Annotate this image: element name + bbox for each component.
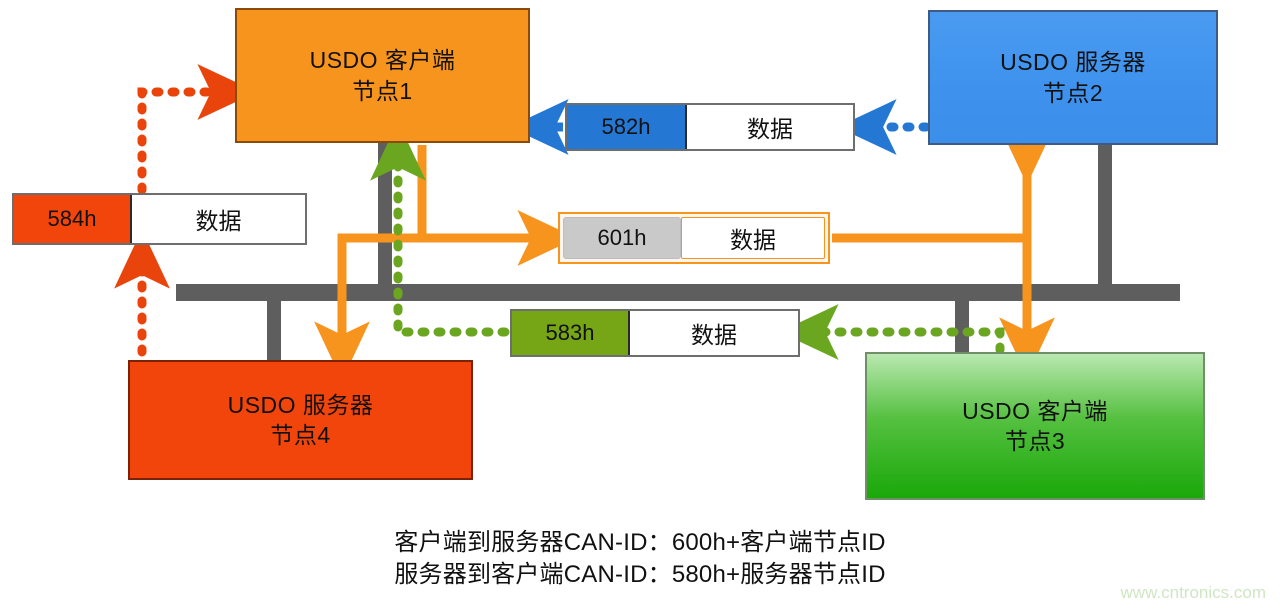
node4-line1: USDO 服务器 (228, 390, 374, 420)
can-frame-584h-id: 584h (14, 195, 132, 243)
node-usdo-client-1[interactable]: USDO 客户端 节点1 (235, 8, 530, 143)
site-watermark: www.cntronics.com (1121, 583, 1266, 603)
node-usdo-client-3[interactable]: USDO 客户端 节点3 (865, 352, 1205, 500)
diagram-canvas: USDO 客户端 节点1 USDO 服务器 节点2 USDO 客户端 节点3 U… (0, 0, 1280, 609)
node1-line2: 节点1 (352, 76, 412, 106)
arrow-node1-to-601h (422, 145, 548, 238)
can-frame-601h-data: 数据 (681, 217, 825, 259)
node1-line1: USDO 客户端 (310, 45, 456, 75)
can-frame-584h[interactable]: 584h 数据 (12, 193, 307, 245)
can-frame-601h[interactable]: 601h 数据 (558, 212, 830, 264)
can-frame-583h[interactable]: 583h 数据 (510, 309, 800, 357)
node3-line1: USDO 客户端 (962, 396, 1108, 426)
node2-line2: 节点2 (1043, 78, 1103, 108)
can-frame-583h-id: 583h (512, 311, 630, 355)
node4-line2: 节点4 (270, 420, 330, 450)
node-usdo-server-4[interactable]: USDO 服务器 节点4 (128, 360, 473, 480)
node2-line1: USDO 服务器 (1000, 47, 1146, 77)
arrow-node3-to-583h (808, 332, 1000, 350)
node-usdo-server-2[interactable]: USDO 服务器 节点2 (928, 10, 1218, 145)
can-frame-582h-id: 582h (567, 105, 687, 149)
arrow-584h-to-node1 (142, 92, 228, 190)
can-frame-601h-id: 601h (563, 217, 681, 259)
can-frame-583h-data: 数据 (630, 311, 798, 355)
node3-line2: 节点3 (1005, 426, 1065, 456)
can-frame-582h[interactable]: 582h 数据 (565, 103, 855, 151)
caption-line-1: 客户端到服务器CAN-ID：600h+客户端节点ID (0, 527, 1280, 559)
caption-line-2: 服务器到客户端CAN-ID：580h+服务器节点ID (0, 559, 1280, 591)
can-frame-582h-data: 数据 (687, 105, 853, 149)
diagram-caption: 客户端到服务器CAN-ID：600h+客户端节点ID 服务器到客户端CAN-ID… (0, 527, 1280, 591)
can-frame-584h-data: 数据 (132, 195, 305, 243)
